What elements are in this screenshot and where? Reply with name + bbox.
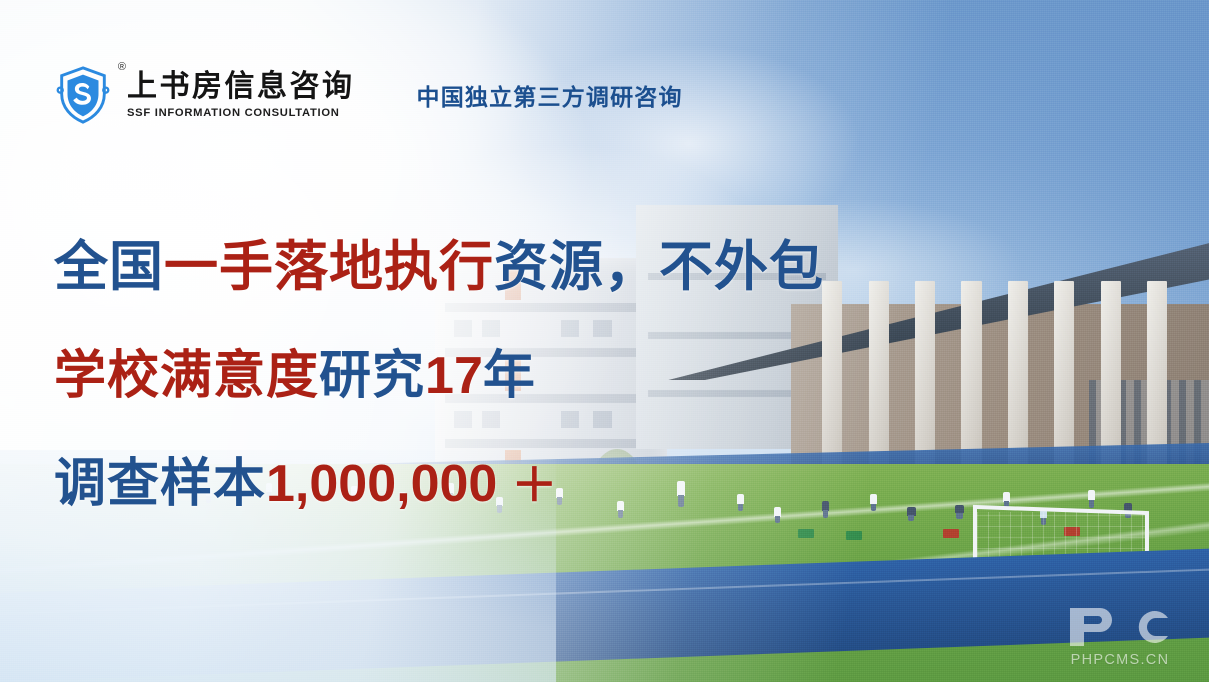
headline-1-segment-1: 全国 bbox=[54, 237, 164, 297]
headline-1: 全国一手落地执行资源，不外包 bbox=[54, 240, 824, 294]
headline-3-segment-1: 调查样本 bbox=[54, 455, 266, 513]
company-name-en: SSF INFORMATION CONSULTATION bbox=[127, 107, 355, 119]
registered-trademark-icon: ® bbox=[118, 62, 126, 73]
watermark-text: PHPCMS.CN bbox=[1071, 652, 1170, 668]
tagline: 中国独立第三方调研咨询 bbox=[417, 78, 683, 112]
plus-sign-icon: ＋ bbox=[511, 459, 558, 511]
headline-2-segment-2: 研究 bbox=[319, 347, 425, 405]
company-name-cn: 上书房信息咨询 bbox=[127, 71, 355, 103]
brand-lockup[interactable]: ® 上书房信息咨询 SSF INFORMATION CONSULTATION bbox=[52, 64, 355, 126]
shield-s-logo-icon: ® bbox=[52, 64, 114, 126]
headline-3-sample-count: 1,000,000 bbox=[266, 455, 497, 513]
headline-1-segment-3: 资源，不外包 bbox=[494, 237, 824, 297]
watermark: PHPCMS.CN bbox=[1057, 604, 1183, 668]
headline-2-segment-1: 学校满意度 bbox=[54, 347, 319, 405]
headline-1-segment-2: 一手落地执行 bbox=[164, 237, 494, 297]
brand-text: 上书房信息咨询 SSF INFORMATION CONSULTATION bbox=[127, 71, 355, 120]
banner-content: ® 上书房信息咨询 SSF INFORMATION CONSULTATION 中… bbox=[0, 0, 1209, 682]
banner-header: ® 上书房信息咨询 SSF INFORMATION CONSULTATION 中… bbox=[52, 64, 683, 126]
headline-3: 调查样本1,000,000＋ bbox=[54, 458, 824, 510]
headline-2-years-number: 17 bbox=[425, 347, 483, 405]
promo-banner: ® 上书房信息咨询 SSF INFORMATION CONSULTATION 中… bbox=[0, 0, 1209, 682]
headline-stack: 全国一手落地执行资源，不外包 学校满意度研究17年 调查样本1,000,000＋ bbox=[54, 240, 824, 510]
headline-2: 学校满意度研究17年 bbox=[54, 350, 824, 402]
phpcms-mark-icon bbox=[1064, 604, 1176, 650]
headline-2-segment-4: 年 bbox=[483, 347, 536, 405]
